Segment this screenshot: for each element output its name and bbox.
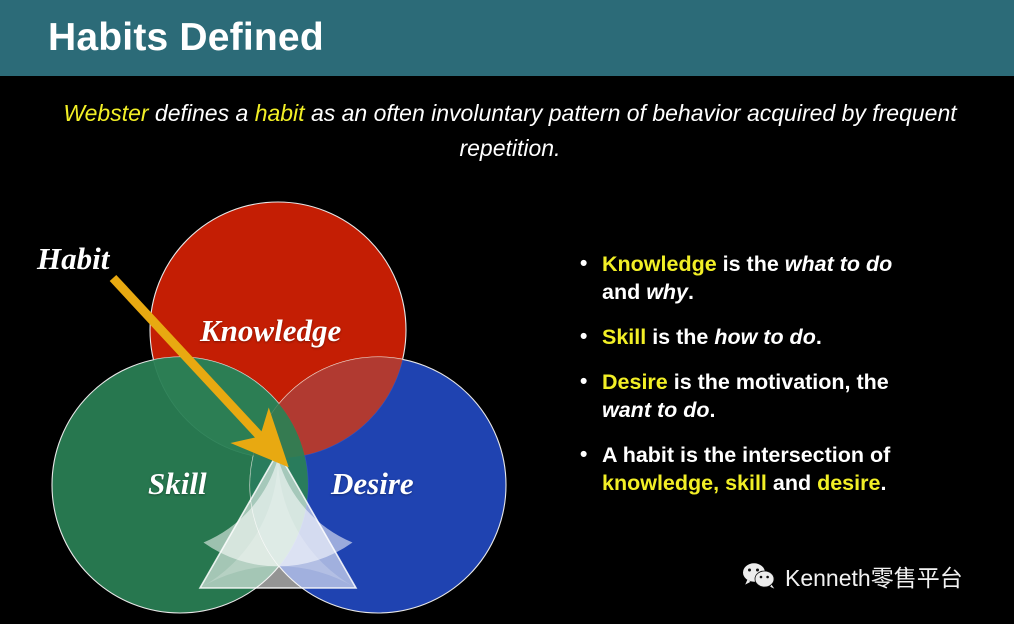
- slide-canvas: Habits Defined Webster defines a habit a…: [0, 0, 1014, 624]
- bullet-marker: •: [580, 250, 587, 278]
- definition-term: habit: [255, 100, 305, 126]
- bullet-emphasis: want to do: [602, 398, 709, 422]
- venn-label-skill: Skill: [148, 466, 207, 502]
- bullet-keyword: Desire: [602, 370, 668, 394]
- watermark-label: Kenneth零售平台: [785, 559, 963, 593]
- bullet-emphasis: what to do: [785, 252, 892, 276]
- bullet-conjunction: and: [767, 471, 817, 495]
- bullet-text-2: .: [709, 398, 715, 422]
- bullet-keyword-1: knowledge,: [602, 471, 719, 495]
- bullet-text-2: .: [816, 325, 822, 349]
- definition-source: Webster: [63, 100, 148, 126]
- bullet-emphasis-2: why: [646, 280, 688, 304]
- list-item: • Desire is the motivation, the want to …: [572, 368, 1004, 424]
- bullet-list: • Knowledge is the what to do and why. •…: [572, 250, 1004, 514]
- list-item: • Skill is the how to do.: [572, 323, 1004, 351]
- bullet-text: is the: [717, 252, 785, 276]
- bullet-marker: •: [580, 368, 587, 396]
- list-item: • Knowledge is the what to do and why.: [572, 250, 1004, 306]
- bullet-text: A habit is the intersection of: [602, 443, 890, 467]
- bullet-keyword-2: skill: [725, 471, 767, 495]
- bullet-keyword-3: desire: [817, 471, 880, 495]
- bullet-marker: •: [580, 441, 587, 469]
- bullet-text: is the motivation, the: [668, 370, 889, 394]
- watermark: Kenneth零售平台: [742, 559, 963, 593]
- definition-text: Webster defines a habit as an often invo…: [60, 96, 960, 166]
- bullet-period: .: [880, 471, 886, 495]
- bullet-keyword: Knowledge: [602, 252, 717, 276]
- definition-rest: as an often involuntary pattern of behav…: [305, 100, 957, 161]
- habit-callout-label: Habit: [37, 241, 109, 277]
- bullet-keyword: Skill: [602, 325, 646, 349]
- bullet-text-2: and: [602, 280, 646, 304]
- definition-connector: defines a: [149, 100, 255, 126]
- venn-label-knowledge: Knowledge: [200, 313, 341, 349]
- bullet-text: is the: [646, 325, 714, 349]
- list-item: • A habit is the intersection of knowled…: [572, 441, 1004, 497]
- bullet-marker: •: [580, 323, 587, 351]
- wechat-icon: [742, 562, 776, 590]
- venn-label-desire: Desire: [331, 466, 414, 502]
- page-title: Habits Defined: [48, 16, 324, 60]
- bullet-text-3: .: [688, 280, 694, 304]
- bullet-emphasis: how to do: [714, 325, 816, 349]
